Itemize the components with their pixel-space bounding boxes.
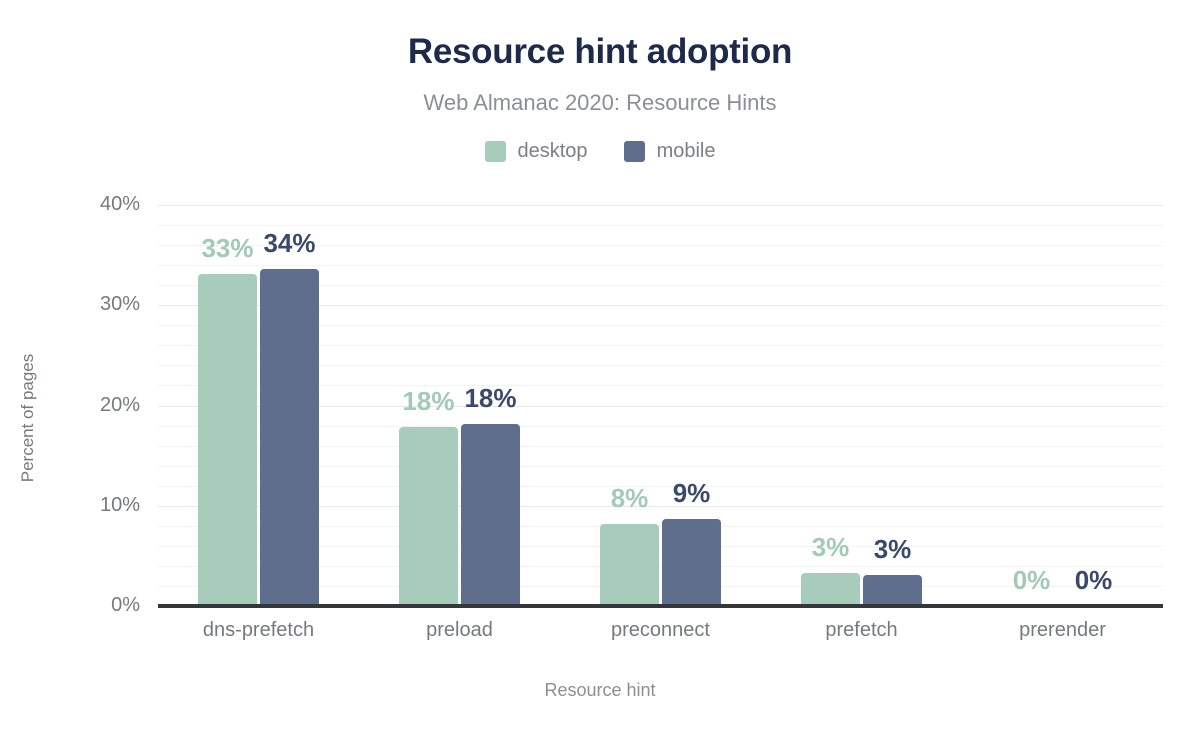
bar-desktop-dns-prefetch[interactable] [198,274,257,606]
legend-swatch-desktop-icon [485,141,506,162]
x-axis-tick-label-preload: preload [350,618,570,642]
data-label-desktop-dns-prefetch: 33% [194,234,261,262]
bar-mobile-preload[interactable] [461,424,520,606]
legend-label-mobile: mobile [657,140,716,162]
data-label-desktop-preconnect: 8% [596,484,663,512]
data-label-mobile-dns-prefetch: 34% [256,229,323,257]
bar-mobile-prefetch[interactable] [863,575,922,606]
x-axis-tick-label-prefetch: prefetch [752,618,972,642]
bar-desktop-preload[interactable] [399,427,458,606]
legend-item-desktop[interactable]: desktop [485,140,588,162]
y-axis-tick-label: 20% [40,395,140,415]
data-label-desktop-prefetch: 3% [797,533,864,561]
data-label-desktop-preload: 18% [395,387,462,415]
bar-mobile-preconnect[interactable] [662,519,721,606]
data-label-desktop-prerender: 0% [998,566,1065,594]
legend-swatch-mobile-icon [624,141,645,162]
y-axis-tick-label: 0% [40,595,140,615]
data-label-mobile-prerender: 0% [1060,566,1127,594]
gridline-major [158,205,1163,206]
x-axis-title: Resource hint [0,678,1200,702]
y-axis-tick-label: 10% [40,495,140,515]
gridline-minor [158,265,1163,266]
plot-area [158,205,1163,606]
x-axis-tick-label-prerender: prerender [953,618,1173,642]
gridline-minor [158,225,1163,226]
legend-label-desktop: desktop [518,140,588,162]
y-axis-tick-label: 30% [40,294,140,314]
chart-legend: desktop mobile [0,140,1200,162]
data-label-mobile-preconnect: 9% [658,479,725,507]
data-label-mobile-preload: 18% [457,384,524,412]
y-axis-title: Percent of pages [18,308,38,528]
data-label-mobile-prefetch: 3% [859,535,926,563]
x-axis-baseline [158,604,1163,608]
x-axis-tick-label-preconnect: preconnect [551,618,771,642]
y-axis-tick-label: 40% [40,194,140,214]
bar-mobile-dns-prefetch[interactable] [260,269,319,606]
bar-desktop-preconnect[interactable] [600,524,659,606]
chart-subtitle: Web Almanac 2020: Resource Hints [0,88,1200,118]
bar-desktop-prefetch[interactable] [801,573,860,606]
legend-item-mobile[interactable]: mobile [624,140,716,162]
chart-title: Resource hint adoption [0,30,1200,74]
bar-chart: Resource hint adoption Web Almanac 2020:… [0,0,1200,742]
x-axis-tick-label-dns-prefetch: dns-prefetch [149,618,369,642]
